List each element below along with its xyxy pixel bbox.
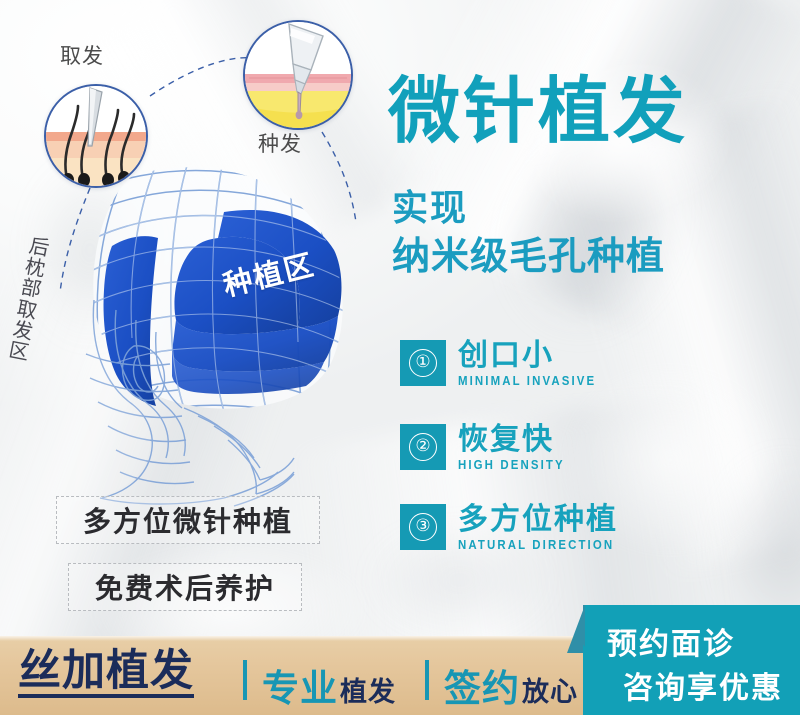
feature-box-multi-angle: 多方位微针种植 (56, 496, 320, 544)
benefit-text-2: 恢复快 HIGH DENSITY (458, 424, 579, 472)
implantation-label: 种发 (258, 128, 302, 158)
benefit-item-2: ② 恢复快 HIGH DENSITY (400, 424, 579, 472)
tagline-2-small: 放心 (522, 677, 578, 707)
head-wireframe-figure (28, 150, 398, 510)
extraction-inset-circle (44, 84, 148, 188)
subtitle-line-1: 实现 (392, 190, 468, 226)
tagline-2-big: 签约 (444, 668, 520, 709)
cta-fold-corner (583, 605, 585, 647)
cta-panel[interactable]: 预约面诊 咨询享优惠 (583, 605, 800, 715)
benefit-subtitle-1: MINIMAL INVASIVE (458, 373, 596, 388)
bar-divider-2 (425, 660, 429, 700)
follicle-extraction-icon (46, 86, 146, 186)
cta-line-1: 预约面诊 (607, 619, 735, 663)
feature-box-1-label: 多方位微针种植 (83, 500, 293, 540)
benefit-title-2: 恢复快 (458, 424, 579, 455)
head-wireframe-svg (28, 150, 398, 510)
benefit-subtitle-3: NATURAL DIRECTION (458, 537, 614, 552)
tagline-1-big: 专业 (262, 668, 338, 709)
benefit-item-3: ③ 多方位种植 NATURAL DIRECTION (400, 504, 636, 552)
benefit-subtitle-2: HIGH DENSITY (458, 457, 565, 472)
benefit-text-3: 多方位种植 NATURAL DIRECTION (458, 504, 636, 552)
subtitle-line-2: 纳米级毛孔种植 (392, 238, 665, 276)
benefit-number-2: ② (409, 433, 437, 461)
feature-box-2-label: 免费术后养护 (95, 567, 275, 607)
benefit-badge-2: ② (400, 424, 446, 470)
brand-logo[interactable]: 丝加植发 (18, 649, 194, 698)
benefit-title-1: 创口小 (458, 340, 615, 371)
cta-line-2: 咨询享优惠 (623, 663, 783, 707)
feature-box-free-aftercare: 免费术后养护 (68, 563, 302, 611)
benefit-item-1: ① 创口小 MINIMAL INVASIVE (400, 340, 615, 388)
tagline-2: 签约放心 (444, 658, 578, 712)
benefit-title-3: 多方位种植 (458, 504, 636, 535)
extraction-label: 取发 (60, 40, 104, 70)
tagline-1-small: 植发 (340, 677, 396, 707)
benefit-badge-3: ③ (400, 504, 446, 550)
benefit-badge-1: ① (400, 340, 446, 386)
bar-divider-1 (243, 660, 247, 700)
page-title: 微针植发 (388, 76, 688, 148)
implanter-pen-icon (245, 22, 351, 128)
benefit-number-1: ① (409, 349, 437, 377)
implantation-inset-circle (243, 20, 353, 130)
poster-root: 后枕部取发区 种植区 取发 (0, 0, 800, 715)
benefit-number-3: ③ (409, 513, 437, 541)
benefit-text-1: 创口小 MINIMAL INVASIVE (458, 340, 615, 388)
tagline-1: 专业植发 (262, 658, 396, 712)
